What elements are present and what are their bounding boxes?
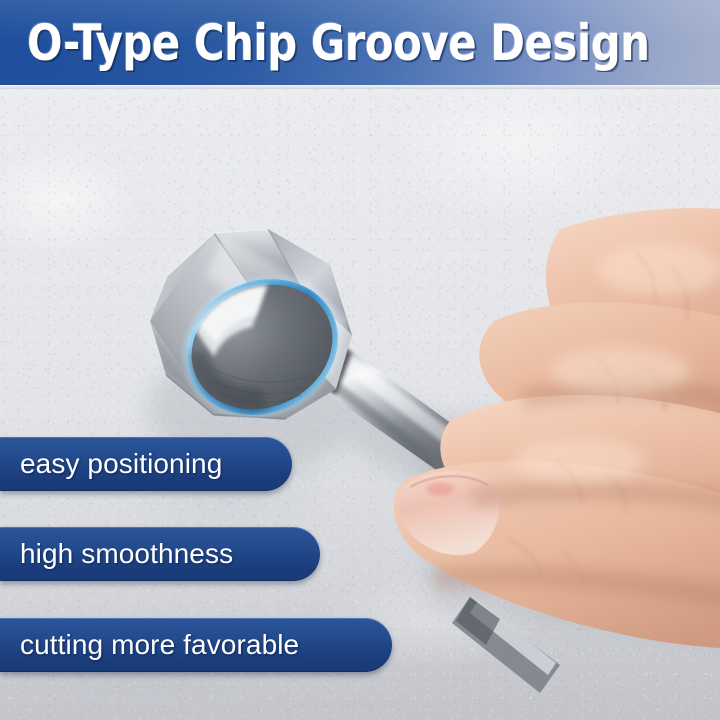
header-banner: O-Type Chip Groove Design [0, 0, 720, 85]
feature-pill-high-smoothness: high smoothness [0, 527, 320, 581]
feature-pill-cutting-more-favorable: cutting more favorable [0, 618, 392, 672]
product-feature-image: O-Type Chip Groove Design easy positioni… [0, 0, 720, 720]
feature-pill-label: easy positioning [20, 448, 222, 480]
page-title: O-Type Chip Groove Design [27, 15, 650, 71]
feature-pill-label: high smoothness [20, 538, 233, 570]
feature-pill-easy-positioning: easy positioning [0, 437, 292, 491]
banner-underline [0, 85, 720, 89]
hand [394, 208, 720, 649]
feature-pill-label: cutting more favorable [20, 629, 299, 661]
